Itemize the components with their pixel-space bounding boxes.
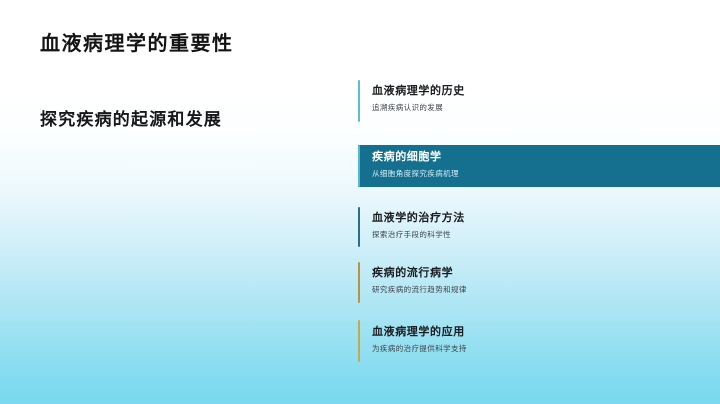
list-item-title: 血液病理学的应用 — [372, 325, 467, 340]
list-item-accent-bar — [358, 262, 360, 303]
list-item-text-group: 血液病理学的历史 追溯疾病认识的发展 — [372, 84, 465, 114]
page-subtitle: 探究疾病的起源和发展 — [40, 105, 222, 130]
list-item-text-group: 疾病的细胞学 从细胞角度探究疾病机理 — [372, 150, 459, 180]
list-item-accent-bar — [358, 80, 360, 122]
list-item-description: 探索治疗手段的科学性 — [372, 229, 465, 241]
list-item-description: 从细胞角度探究疾病机理 — [372, 168, 459, 180]
list-item-text-group: 血液病理学的应用 为疾病的治疗提供科学支持 — [372, 325, 467, 355]
list-item-accent-bar — [358, 145, 360, 187]
list-item-title: 血液病理学的历史 — [372, 84, 465, 99]
list-item-description: 研究疾病的流行趋势和规律 — [372, 284, 467, 296]
list-item-title: 血液学的治疗方法 — [372, 211, 465, 226]
list-item-accent-bar — [358, 207, 360, 247]
list-item-description: 为疾病的治疗提供科学支持 — [372, 343, 467, 355]
list-item-accent-bar — [358, 320, 360, 362]
list-item-text-group: 疾病的流行病学 研究疾病的流行趋势和规律 — [372, 266, 467, 296]
list-item-text-group: 血液学的治疗方法 探索治疗手段的科学性 — [372, 211, 465, 241]
list-item-title: 疾病的细胞学 — [372, 150, 459, 165]
topic-list: 血液病理学的历史 追溯疾病认识的发展 疾病的细胞学 从细胞角度探究疾病机理 血液… — [358, 0, 720, 404]
list-item-description: 追溯疾病认识的发展 — [372, 102, 465, 114]
page-title: 血液病理学的重要性 — [40, 27, 234, 56]
slide-canvas: 血液病理学的重要性 探究疾病的起源和发展 血液病理学的历史 追溯疾病认识的发展 … — [0, 0, 720, 404]
list-item[interactable]: 疾病的细胞学 从细胞角度探究疾病机理 — [358, 145, 720, 187]
slide-left-column: 血液病理学的重要性 探究疾病的起源和发展 — [0, 0, 358, 404]
list-item-title: 疾病的流行病学 — [372, 266, 467, 281]
